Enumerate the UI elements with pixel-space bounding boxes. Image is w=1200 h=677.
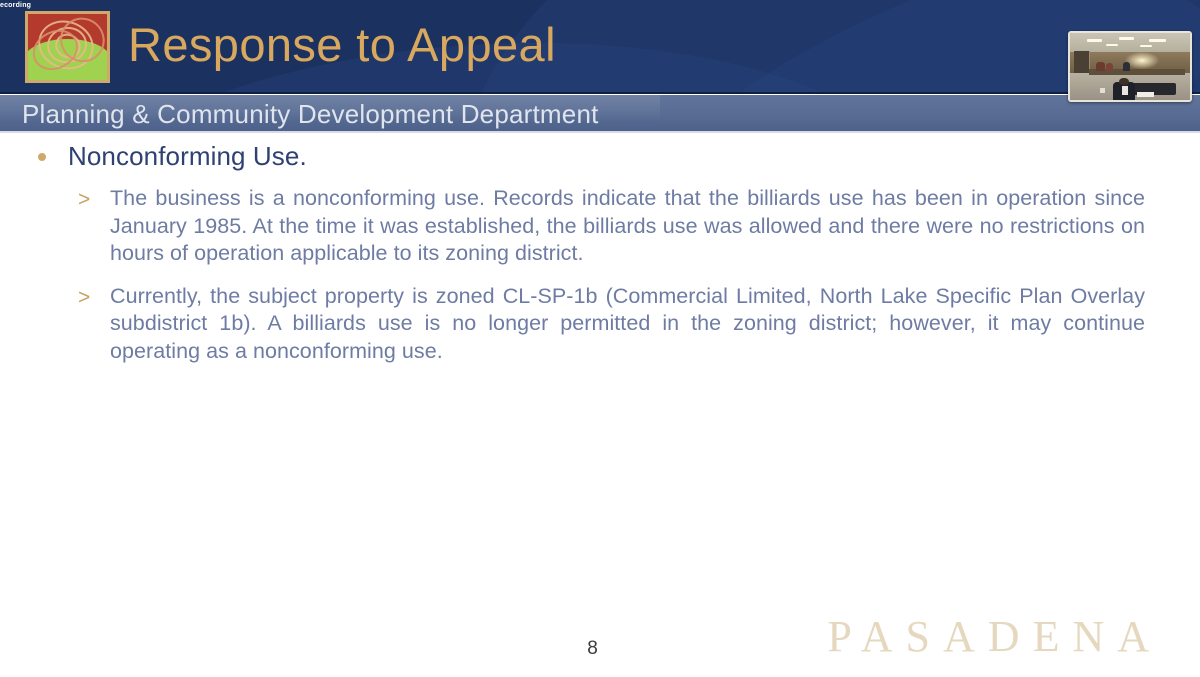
video-ceiling-light	[1087, 39, 1103, 42]
video-foreground-speaker-shirt	[1122, 86, 1128, 95]
video-ceiling-light	[1119, 37, 1133, 40]
video-cup	[1100, 88, 1105, 93]
recording-indicator-label: ecording	[0, 0, 33, 10]
bullet-dot-icon	[38, 153, 46, 161]
sub-bullet-text-1: The business is a nonconforming use. Rec…	[110, 185, 1145, 268]
slide-body: Nonconforming Use. > The business is a n…	[0, 135, 1200, 605]
video-podium-glow	[1125, 52, 1159, 69]
video-papers	[1137, 92, 1154, 97]
video-foreground-speaker-head	[1119, 78, 1129, 85]
slide-root: ecording Response to Appeal	[0, 0, 1200, 677]
video-ceiling-light	[1140, 45, 1152, 47]
department-subtitle-text: Planning & Community Development Departm…	[22, 98, 599, 131]
video-seated-person	[1123, 62, 1130, 71]
header-underline	[0, 92, 1200, 94]
heading-bullet-item: Nonconforming Use.	[0, 139, 1200, 173]
video-ceiling-light	[1149, 39, 1166, 42]
video-seated-person	[1106, 63, 1113, 71]
sub-bullet-item-1: > The business is a nonconforming use. R…	[0, 185, 1200, 268]
video-seated-person	[1096, 62, 1104, 71]
department-subtitle-bar: Planning & Community Development Departm…	[0, 95, 1200, 133]
sub-bullet-item-2: > Currently, the subject property is zon…	[0, 283, 1200, 366]
chevron-right-marker-icon: >	[78, 284, 90, 312]
chevron-right-marker-icon: >	[78, 186, 90, 214]
video-ceiling-region	[1070, 33, 1190, 53]
slide-title: Response to Appeal	[128, 16, 556, 74]
sub-bullet-text-2: Currently, the subject property is zoned…	[110, 283, 1145, 366]
video-feed-thumbnail[interactable]	[1068, 31, 1192, 102]
pasadena-rose-logo-icon	[25, 11, 110, 83]
content-heading: Nonconforming Use.	[68, 139, 1200, 173]
sub-bullet-list: > The business is a nonconforming use. R…	[0, 185, 1200, 365]
pasadena-wordmark: PASADENA	[827, 611, 1162, 663]
